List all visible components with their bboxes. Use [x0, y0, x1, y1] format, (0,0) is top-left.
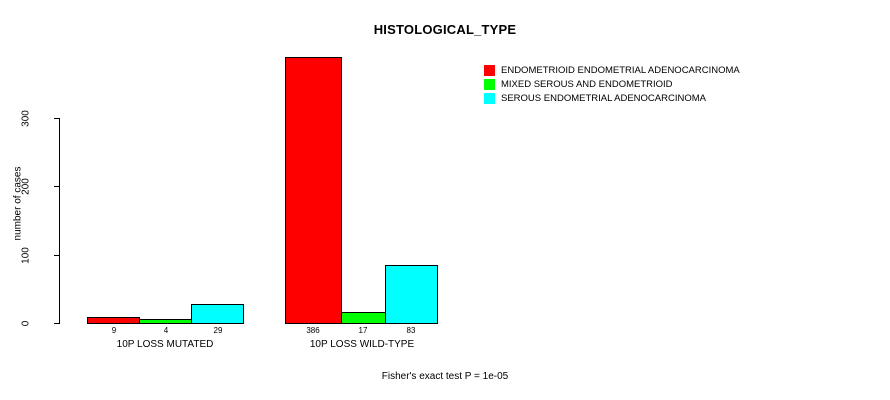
bar-group2-serous	[385, 265, 438, 324]
bar-value-group2-serous: 83	[391, 326, 431, 335]
legend-item-serous: SEROUS ENDOMETRIAL ADENOCARCINOMA	[484, 92, 740, 105]
bar-value-group2-mixed: 17	[343, 326, 383, 335]
y-tick-300	[54, 118, 59, 119]
legend-label-endometrioid: ENDOMETRIOID ENDOMETRIAL ADENOCARCINOMA	[501, 65, 740, 76]
bar-group2-endometrioid	[285, 57, 342, 324]
bar-group2-mixed	[341, 312, 386, 324]
legend-swatch-cyan-icon	[484, 93, 495, 104]
y-axis-line	[59, 118, 60, 324]
bar-value-group1-mixed: 4	[146, 326, 186, 335]
legend-item-endometrioid: ENDOMETRIOID ENDOMETRIAL ADENOCARCINOMA	[484, 64, 740, 77]
group-label-10p-loss-mutated: 10P LOSS MUTATED	[85, 339, 245, 350]
y-tick-100	[54, 255, 59, 256]
bar-value-group1-serous: 29	[198, 326, 238, 335]
bar-value-group2-endometrioid: 386	[293, 326, 333, 335]
legend-swatch-red-icon	[484, 65, 495, 76]
legend-label-mixed: MIXED SEROUS AND ENDOMETRIOID	[501, 79, 673, 90]
bar-group1-mixed	[139, 319, 192, 324]
y-tick-0	[54, 323, 59, 324]
legend-swatch-green-icon	[484, 79, 495, 90]
y-tick-label-300: 300	[21, 99, 32, 139]
bar-group1-endometrioid	[87, 317, 140, 324]
bar-group1-serous	[191, 304, 244, 324]
legend: ENDOMETRIOID ENDOMETRIAL ADENOCARCINOMA …	[484, 64, 740, 106]
bar-value-group1-endometrioid: 9	[94, 326, 134, 335]
chart-title: HISTOLOGICAL_TYPE	[0, 22, 890, 37]
legend-label-serous: SEROUS ENDOMETRIAL ADENOCARCINOMA	[501, 93, 706, 104]
legend-item-mixed: MIXED SEROUS AND ENDOMETRIOID	[484, 78, 740, 91]
chart-canvas: HISTOLOGICAL_TYPE 0 100 200 300 number o…	[0, 0, 890, 400]
group-label-10p-loss-wild-type: 10P LOSS WILD-TYPE	[282, 339, 442, 350]
statistical-test-footnote: Fisher's exact test P = 1e-05	[0, 371, 890, 382]
y-axis-title: number of cases	[13, 144, 24, 264]
y-tick-200	[54, 186, 59, 187]
y-tick-label-0: 0	[21, 304, 32, 344]
